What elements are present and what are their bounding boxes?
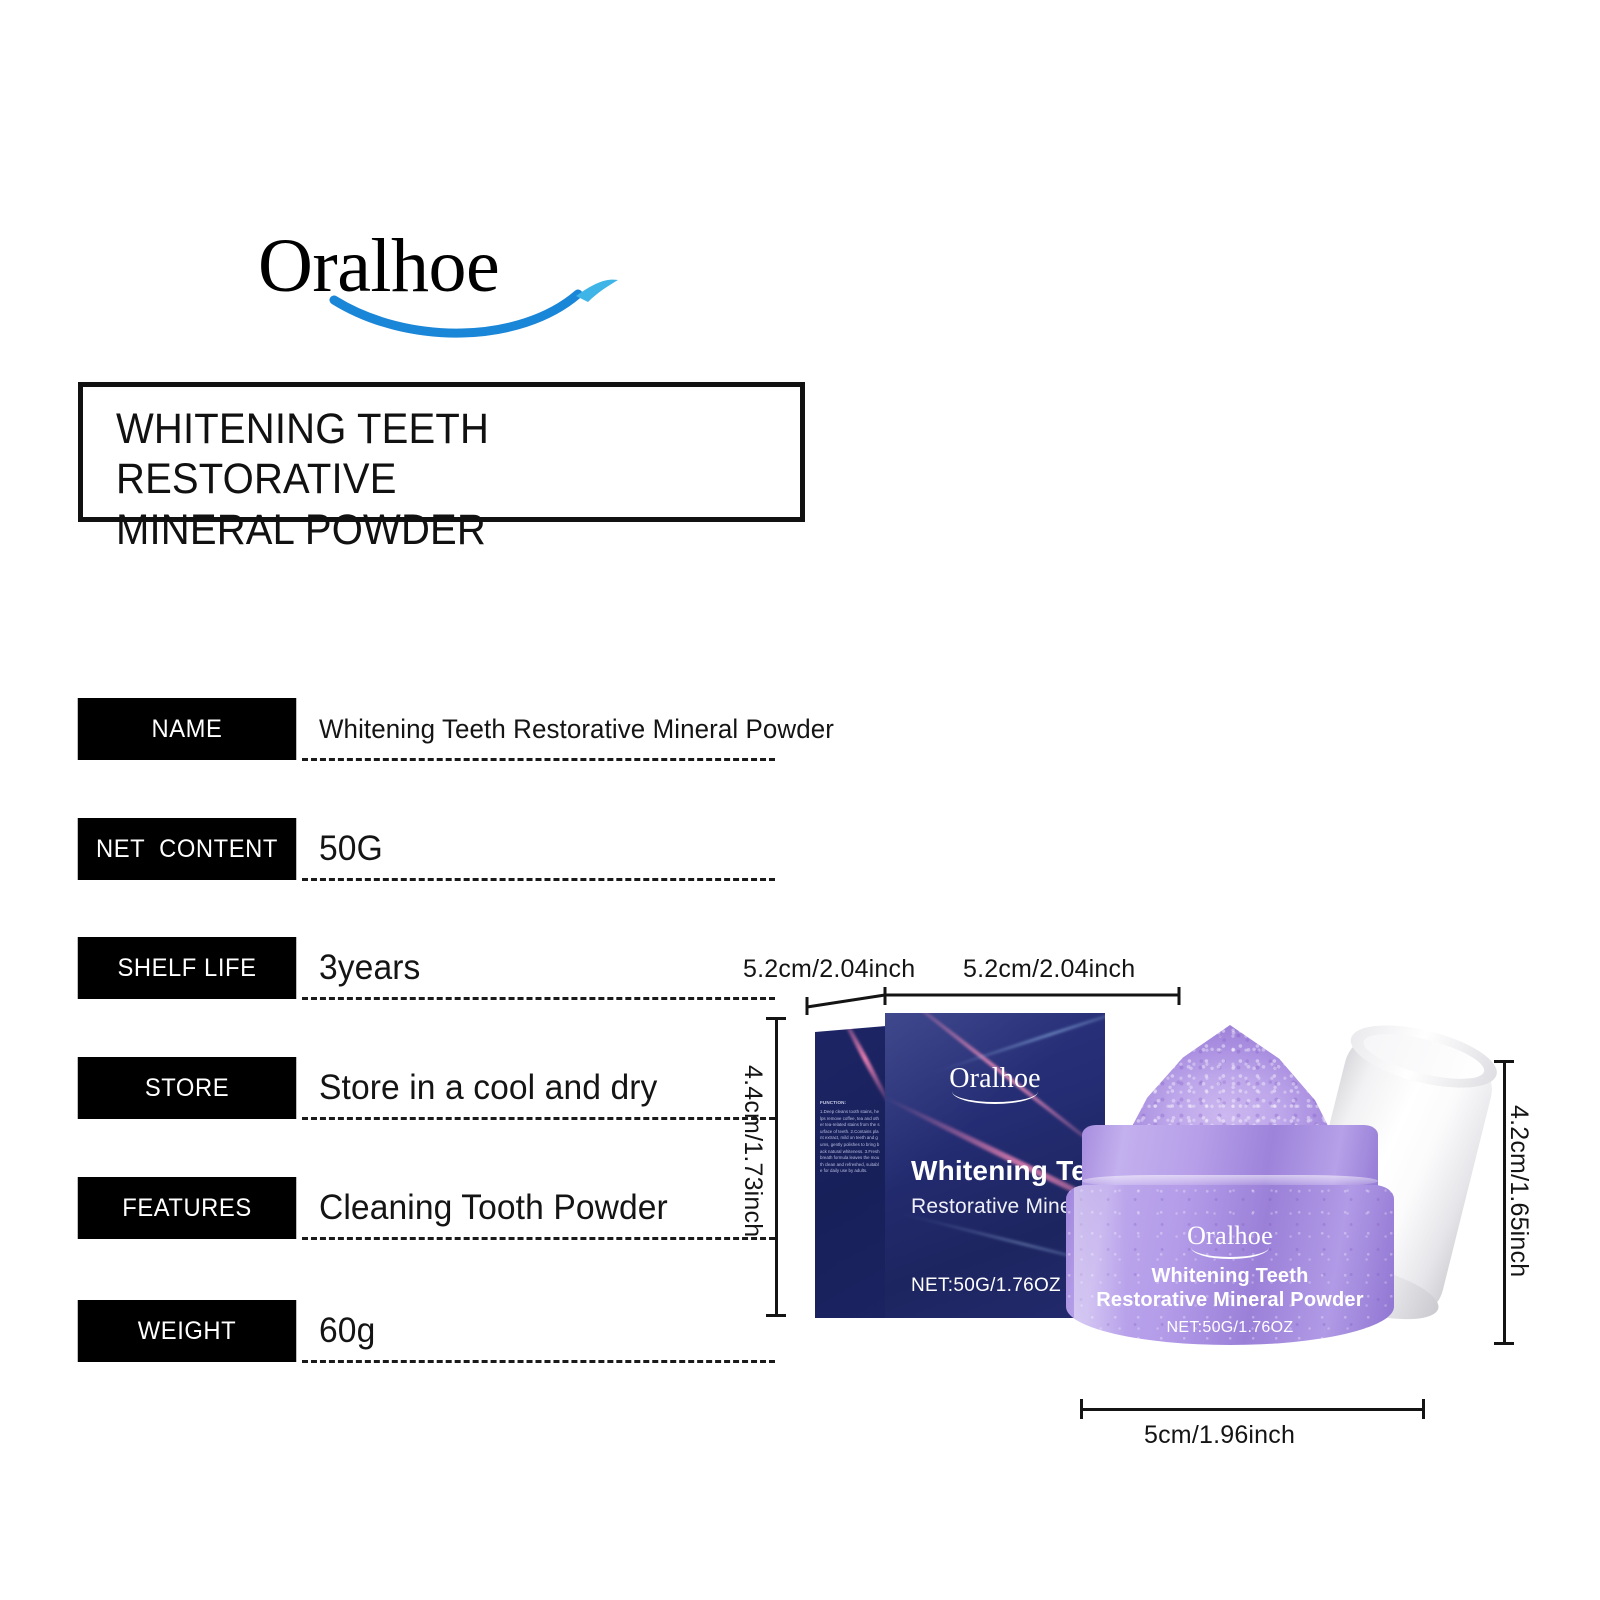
dim-jar-width-line bbox=[1080, 1408, 1425, 1411]
jar-net-weight: NET:50G/1.76OZ bbox=[1066, 1319, 1394, 1337]
jar-brand: Oralhoe bbox=[1066, 1221, 1394, 1259]
carton-side-panel: FUNCTION: 1.Deep cleans tooth stains, he… bbox=[815, 1026, 886, 1318]
dim-tick-top bbox=[766, 1017, 786, 1020]
spec-underline bbox=[302, 1117, 775, 1120]
spec-value: Whitening Teeth Restorative Mineral Powd… bbox=[319, 698, 834, 760]
dim-carton-height: 4.4cm/1.73inch bbox=[738, 1065, 767, 1237]
spec-underline bbox=[302, 1237, 775, 1240]
spec-value: 60g bbox=[319, 1300, 375, 1362]
spec-label: NET CONTENT bbox=[78, 818, 297, 880]
dim-tick-bottom bbox=[1494, 1342, 1514, 1345]
carton-net-weight: NET:50G/1.76OZ bbox=[911, 1275, 1061, 1297]
carton-side-body: 1.Deep cleans tooth stains, helps remove… bbox=[820, 1109, 880, 1175]
dim-jar-height: 4.2cm/1.65inch bbox=[1504, 1105, 1533, 1277]
dim-carton-depth: 5.2cm/2.04inch bbox=[743, 955, 915, 984]
spec-value: Cleaning Tooth Powder bbox=[319, 1177, 668, 1239]
dim-tick-bottom bbox=[766, 1314, 786, 1317]
carton-subhead: Restorative Miner bbox=[911, 1195, 1079, 1219]
spec-value: 3years bbox=[319, 937, 420, 999]
dim-tick-left bbox=[1080, 1399, 1083, 1419]
spec-label: WEIGHT bbox=[78, 1300, 297, 1362]
page-title: WHITENING TEETH RESTORATIVE MINERAL POWD… bbox=[116, 404, 748, 555]
spec-underline bbox=[302, 878, 775, 881]
swoosh-icon bbox=[258, 228, 678, 338]
dim-tick-top bbox=[1494, 1060, 1514, 1063]
dim-carton-width: 5.2cm/2.04inch bbox=[963, 955, 1135, 984]
carton-side-title: FUNCTION: bbox=[820, 1100, 846, 1105]
dim-tick-right bbox=[1422, 1399, 1425, 1419]
jar-line1: Whitening Teeth bbox=[1066, 1265, 1394, 1288]
spec-label: FEATURES bbox=[78, 1177, 297, 1239]
spec-label: SHELF LIFE bbox=[78, 937, 297, 999]
product-title-box: WHITENING TEETH RESTORATIVE MINERAL POWD… bbox=[78, 382, 805, 522]
spec-underline bbox=[302, 1360, 775, 1363]
jar-body: Oralhoe Whitening Teeth Restorative Mine… bbox=[1066, 1185, 1394, 1345]
spec-label: STORE bbox=[78, 1057, 297, 1119]
dim-jar-width: 5cm/1.96inch bbox=[1144, 1421, 1295, 1450]
jar-line2: Restorative Mineral Powder bbox=[1066, 1289, 1394, 1312]
brand-logo: Oralhoe bbox=[258, 228, 678, 338]
spec-underline bbox=[302, 997, 775, 1000]
spec-underline bbox=[302, 758, 775, 761]
product-photo-group: 5.2cm/2.04inch 5.2cm/2.04inch 4.4cm/1.73… bbox=[735, 955, 1565, 1485]
spec-value: Store in a cool and dry bbox=[319, 1057, 657, 1119]
product-jar: Oralhoe Whitening Teeth Restorative Mine… bbox=[1060, 1025, 1400, 1345]
spec-value: 50G bbox=[319, 818, 383, 880]
spec-label: NAME bbox=[78, 698, 297, 760]
dim-carton-height-line bbox=[775, 1017, 778, 1317]
